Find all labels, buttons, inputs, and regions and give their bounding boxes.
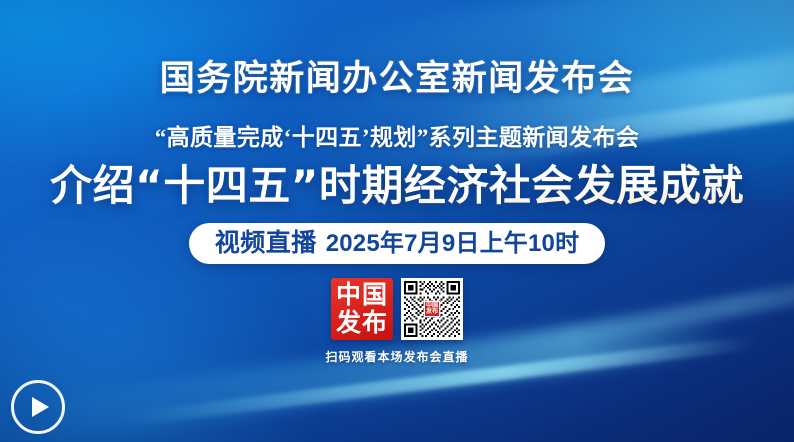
qr-row: 中国 发布 xyxy=(331,278,463,340)
qr-center-line2: 发布 xyxy=(426,309,438,315)
page-title: 国务院新闻办公室新闻发布会 xyxy=(160,57,635,101)
brand-logo-line2: 发布 xyxy=(336,310,388,337)
live-badge-datetime: 2025年7月9日上午10时 xyxy=(326,229,580,259)
brand-logo-line1: 中国 xyxy=(336,282,388,309)
qr-code[interactable]: 中国 发布 xyxy=(401,278,463,340)
play-button[interactable] xyxy=(11,380,65,434)
qr-center-logo: 中国 发布 xyxy=(424,301,440,317)
qr-section: 中国 发布 xyxy=(325,278,468,365)
series-subtitle: “高质量完成‘十四五’规划”系列主题新闻发布会 xyxy=(155,123,640,153)
broadcast-poster: 国务院新闻办公室新闻发布会 “高质量完成‘十四五’规划”系列主题新闻发布会 介绍… xyxy=(0,0,794,442)
brand-logo: 中国 发布 xyxy=(331,278,393,340)
play-icon xyxy=(32,397,49,417)
event-headline: 介绍“十四五”时期经济社会发展成就 xyxy=(50,160,744,212)
qr-caption: 扫码观看本场发布会直播 xyxy=(325,349,468,365)
poster-content: 国务院新闻办公室新闻发布会 “高质量完成‘十四五’规划”系列主题新闻发布会 介绍… xyxy=(0,0,794,442)
live-badge-label: 视频直播 xyxy=(215,229,317,259)
live-broadcast-badge: 视频直播 2025年7月9日上午10时 xyxy=(189,223,606,264)
